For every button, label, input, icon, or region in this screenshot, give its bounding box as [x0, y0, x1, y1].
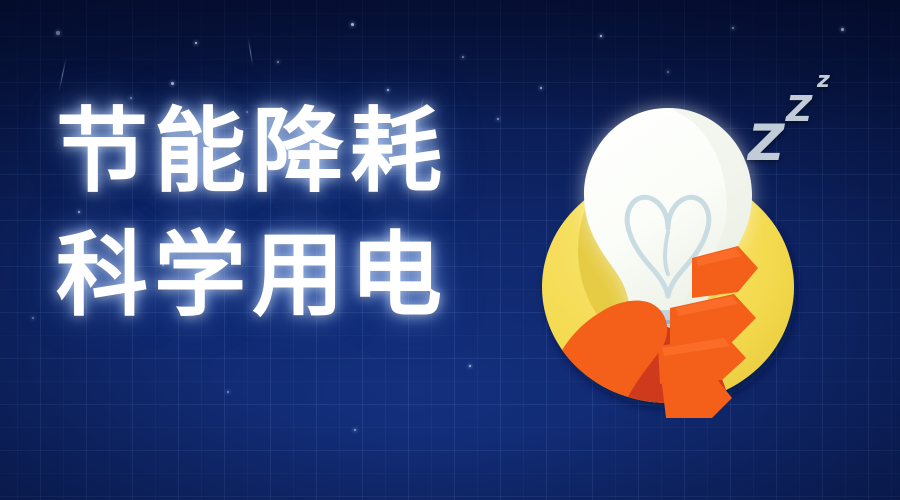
lightbulb-illustration-svg [520, 60, 900, 460]
star-dot [195, 42, 197, 44]
sleep-z-small-icon: z [817, 70, 830, 92]
star-dot [32, 317, 34, 319]
poster-canvas: 节能降耗 科学用电 Z Z z [0, 0, 900, 500]
star-dot [469, 365, 471, 367]
star-dot [462, 56, 465, 59]
headline-line-2: 科学用电 [56, 230, 448, 322]
star-dot [387, 89, 389, 91]
star-dot [171, 82, 174, 85]
sleep-z-medium-icon: Z [786, 92, 812, 128]
lightbulb-illustration [520, 60, 900, 460]
sleep-z-large-icon: Z [748, 118, 784, 168]
star-dot [56, 31, 59, 34]
star-streak [248, 38, 253, 66]
star-dot [351, 23, 354, 26]
headline-block: 节能降耗 科学用电 [56, 106, 448, 322]
star-dot [497, 118, 499, 120]
headline-line-1: 节能降耗 [56, 106, 448, 198]
star-dot [277, 61, 279, 63]
star-dot [732, 27, 735, 30]
star-dot [354, 429, 356, 431]
star-dot [227, 391, 229, 393]
star-streak [58, 58, 66, 91]
star-dot [841, 28, 844, 31]
star-dot [600, 35, 602, 37]
